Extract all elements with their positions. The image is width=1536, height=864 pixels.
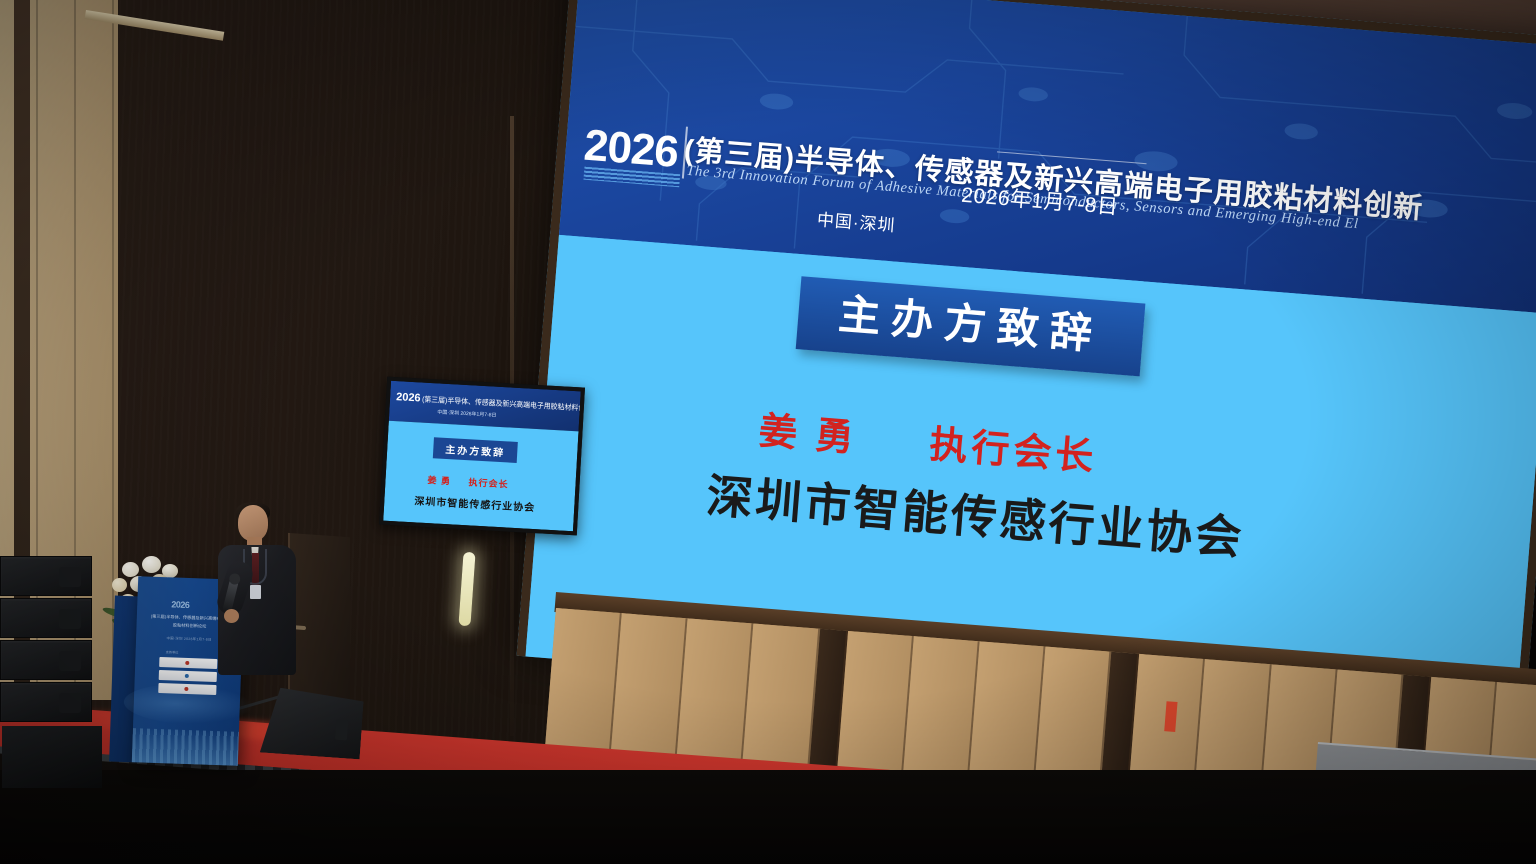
podium-year: 2026 bbox=[171, 599, 189, 610]
slide-section-title: 主办方致辞 bbox=[837, 290, 1105, 358]
monitor-organization: 深圳市智能传感行业协会 bbox=[414, 492, 536, 514]
slide-section-title-badge: 主办方致辞 bbox=[796, 276, 1146, 376]
presenter-hand bbox=[224, 609, 239, 623]
line-array-speaker bbox=[0, 640, 92, 680]
subwoofer bbox=[2, 726, 102, 788]
presenter-head bbox=[238, 505, 268, 541]
confidence-monitor: 2026 (第三届)半导体、传感器及新兴高端电子用胶粘材料创新论坛 中国·深圳 … bbox=[379, 377, 585, 536]
line-array-speaker bbox=[0, 556, 92, 596]
podium-skyline-graphic bbox=[132, 728, 239, 766]
wall-panel bbox=[902, 636, 980, 791]
podium-sponsor-logo bbox=[158, 683, 216, 695]
slide-speaker-name: 姜 勇 bbox=[757, 410, 859, 460]
monitor-banner-meta: 中国·深圳 2026年1月7-8日 bbox=[437, 408, 496, 418]
wall-panel bbox=[836, 631, 914, 786]
wall-panel bbox=[676, 618, 754, 773]
podium-sponsor-logos bbox=[158, 657, 217, 698]
monitor-speaker-role: 执行会长 bbox=[468, 477, 509, 489]
speaker-stack bbox=[0, 556, 92, 756]
monitor-slide-body: 主办方致辞 姜 勇 执行会长 深圳市智能传感行业协会 bbox=[383, 421, 578, 531]
slide-speaker-role: 执行会长 bbox=[928, 424, 1099, 479]
wall-panel bbox=[610, 613, 688, 768]
monitor-speaker-line: 姜 勇 执行会长 bbox=[427, 473, 509, 491]
line-array-speaker bbox=[0, 598, 92, 638]
wall-panel bbox=[544, 608, 622, 763]
monitor-speaker-name: 姜 勇 bbox=[427, 475, 451, 486]
monitor-section-title: 主办方致辞 bbox=[433, 437, 518, 463]
presenter bbox=[212, 505, 304, 725]
wall-panel bbox=[742, 624, 820, 779]
conference-hall-scene: 2026 (第三届)半导体、传感器及新兴高端电子用胶粘材料创新 The 3rd … bbox=[0, 0, 1536, 864]
podium-sponsor-logo bbox=[159, 657, 217, 669]
podium-sponsor-logo bbox=[159, 670, 217, 682]
red-wall-marker bbox=[1164, 701, 1177, 732]
presenter-badge bbox=[250, 585, 261, 599]
monitor-banner-year: 2026 bbox=[396, 391, 421, 404]
floor bbox=[0, 770, 1536, 864]
banner-location: 中国·深圳 bbox=[816, 205, 896, 236]
podium-sponsor-label: 支持单位 bbox=[166, 649, 179, 654]
line-array-speaker bbox=[0, 682, 92, 722]
slide-organization: 深圳市智能传感行业协会 bbox=[704, 460, 1247, 569]
